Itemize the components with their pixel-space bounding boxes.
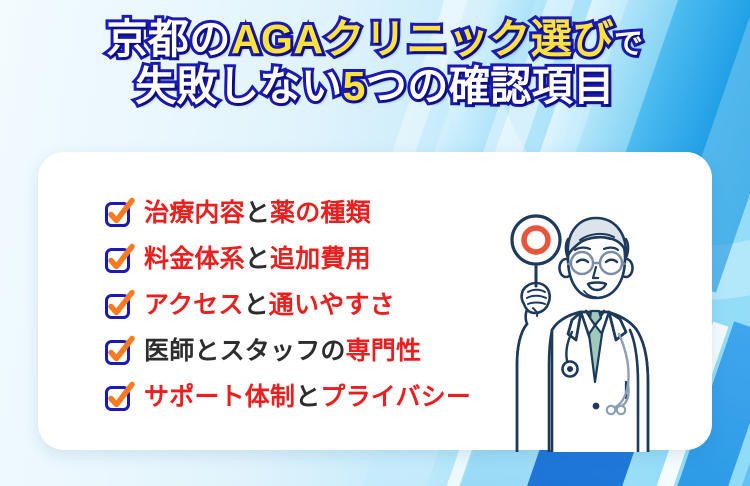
list-item[interactable]: 治療内容と薬の種類 <box>104 194 524 232</box>
title-segment: で <box>614 28 644 60</box>
label-segment: と <box>245 245 270 273</box>
label-segment: プライバシー <box>320 383 471 411</box>
checkbox-checked-icon <box>104 290 134 320</box>
list-item[interactable]: サポート体制とプライバシー <box>104 378 524 416</box>
label-segment: 通いやすさ <box>269 291 395 319</box>
label-segment: と <box>295 383 320 411</box>
label-segment: 専門性 <box>346 337 422 365</box>
label-segment: 薬の種類 <box>270 199 371 227</box>
title-segment: 京都の <box>106 16 231 62</box>
label-segment: 追加費用 <box>270 245 371 273</box>
list-item-label: アクセスと通いやすさ <box>144 293 395 318</box>
list-item-label: 医師とスタッフの専門性 <box>144 339 421 364</box>
list-item[interactable]: アクセスと通いやすさ <box>104 286 524 324</box>
label-segment: 治療内容 <box>144 199 245 227</box>
label-segment: アクセス <box>144 291 244 319</box>
infographic-canvas: 京都のAGAクリニック選びで 失敗しない5つの確認項目 治療内容と薬の種類 <box>0 0 750 486</box>
title-line-1: 京都のAGAクリニック選びで <box>0 18 750 61</box>
title-segment-accent: AGA <box>231 16 324 62</box>
list-item[interactable]: 医師とスタッフの専門性 <box>104 332 524 370</box>
checklist: 治療内容と薬の種類 料金体系と追加費用 <box>104 194 524 416</box>
checkbox-checked-icon <box>104 198 134 228</box>
label-segment: 料金体系 <box>144 245 245 273</box>
label-segment: と <box>245 199 270 227</box>
label-segment: サポート体制 <box>144 383 295 411</box>
list-item[interactable]: 料金体系と追加費用 <box>104 240 524 278</box>
title-segment: 失敗しない <box>135 63 343 109</box>
title-segment-accent: クリニック選び <box>324 16 615 62</box>
title-segment-accent: 5 <box>343 63 366 109</box>
label-segment: と <box>244 291 269 319</box>
page-title: 京都のAGAクリニック選びで 失敗しない5つの確認項目 <box>0 18 750 107</box>
checkbox-checked-icon <box>104 382 134 412</box>
list-item-label: 治療内容と薬の種類 <box>144 201 371 226</box>
title-line-2: 失敗しない5つの確認項目 <box>0 65 750 108</box>
label-segment: 医師とスタッフの <box>144 337 346 365</box>
list-item-label: 料金体系と追加費用 <box>144 247 371 272</box>
doctor-holding-circle-sign-illustration <box>480 212 676 452</box>
title-segment: つの確認項目 <box>366 63 615 109</box>
checkbox-checked-icon <box>104 244 134 274</box>
list-item-label: サポート体制とプライバシー <box>144 385 471 410</box>
checkbox-checked-icon <box>104 336 134 366</box>
